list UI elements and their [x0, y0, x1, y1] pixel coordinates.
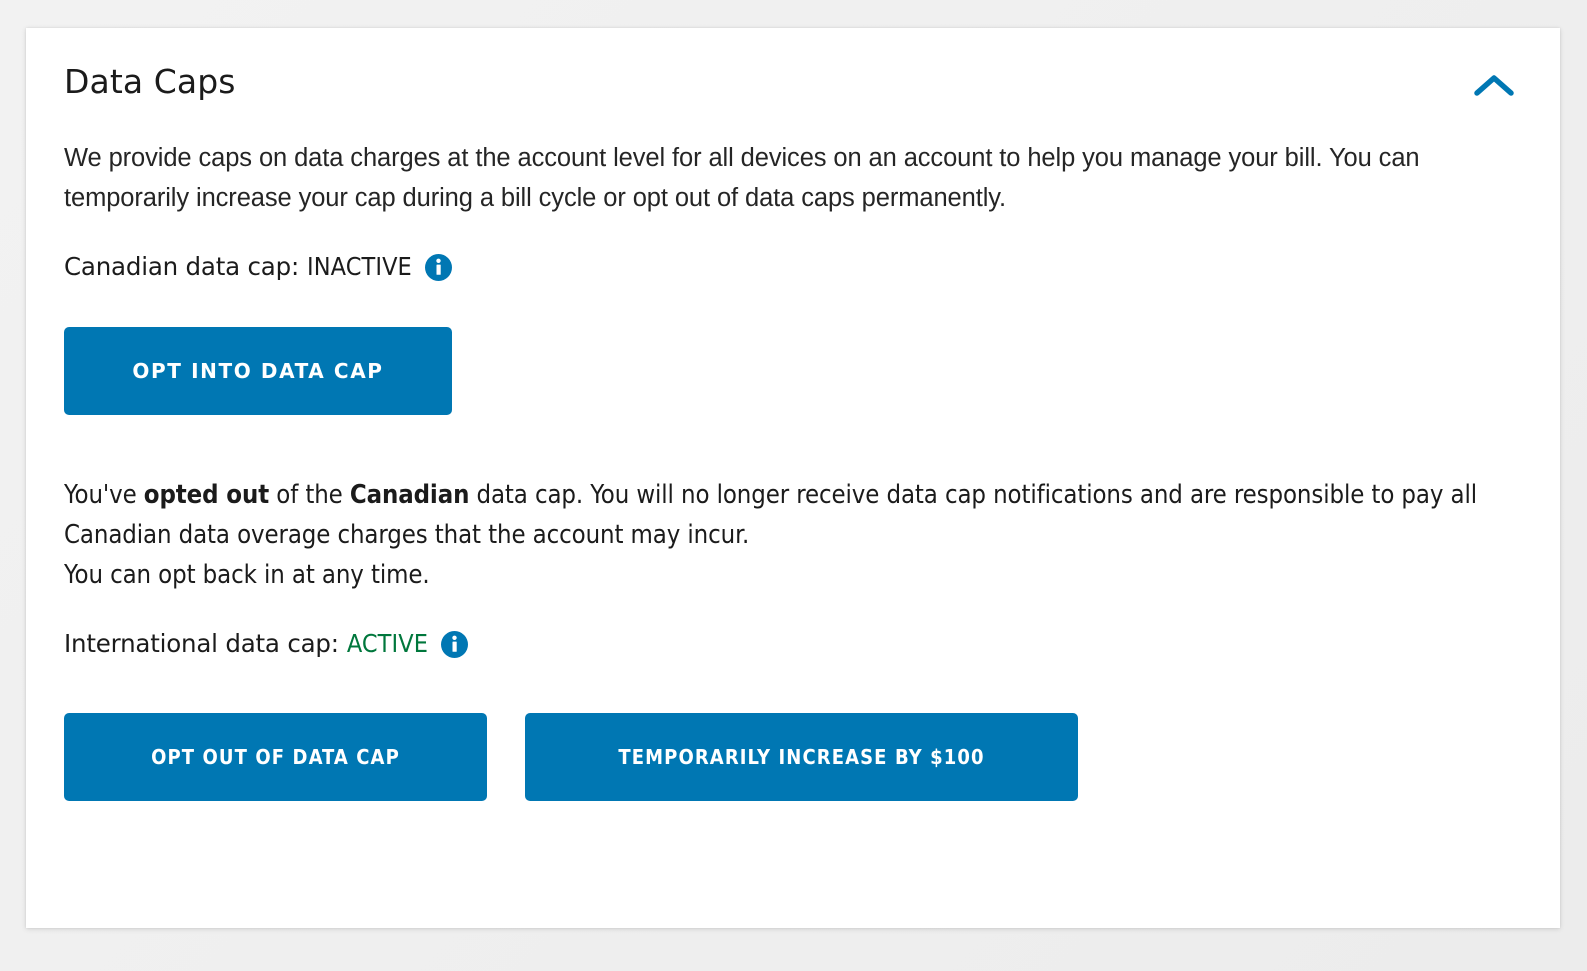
notice-line-2: You can opt back in at any time. — [64, 560, 430, 590]
page-background: Data Caps We provide caps on data charge… — [0, 0, 1587, 971]
notice-part-1: You've — [64, 480, 144, 510]
opt-out-notice: You've opted out of the Canadian data ca… — [64, 475, 1522, 595]
opt-into-data-cap-button[interactable]: OPT INTO DATA CAP — [64, 327, 452, 415]
international-status-label: International data cap: — [64, 627, 339, 661]
canadian-status-label: Canadian data cap: — [64, 250, 299, 284]
international-data-cap-status: International data cap: ACTIVE — [64, 627, 1522, 661]
international-status-badge: ACTIVE — [347, 627, 428, 661]
international-actions: OPT OUT OF DATA CAP TEMPORARILY INCREASE… — [64, 713, 1522, 801]
page-title: Data Caps — [64, 62, 236, 102]
data-caps-card: Data Caps We provide caps on data charge… — [26, 28, 1560, 928]
opt-out-of-data-cap-button[interactable]: OPT OUT OF DATA CAP — [64, 713, 487, 801]
info-circle-icon[interactable] — [425, 254, 452, 281]
canadian-actions: OPT INTO DATA CAP — [64, 327, 1522, 415]
info-circle-icon[interactable] — [441, 631, 468, 658]
canadian-status-badge: INACTIVE — [307, 250, 412, 284]
card-header: Data Caps — [64, 62, 1522, 102]
intro-paragraph: We provide caps on data charges at the a… — [64, 138, 1484, 218]
canadian-data-cap-status: Canadian data cap: INACTIVE — [64, 250, 1522, 284]
notice-part-2: of the — [269, 480, 350, 510]
collapse-toggle-button[interactable] — [1472, 68, 1516, 102]
notice-bold-opted-out: opted out — [144, 480, 269, 510]
chevron-up-icon — [1474, 72, 1514, 98]
temporarily-increase-button[interactable]: TEMPORARILY INCREASE BY $100 — [525, 713, 1078, 801]
notice-bold-canadian: Canadian — [350, 480, 469, 510]
